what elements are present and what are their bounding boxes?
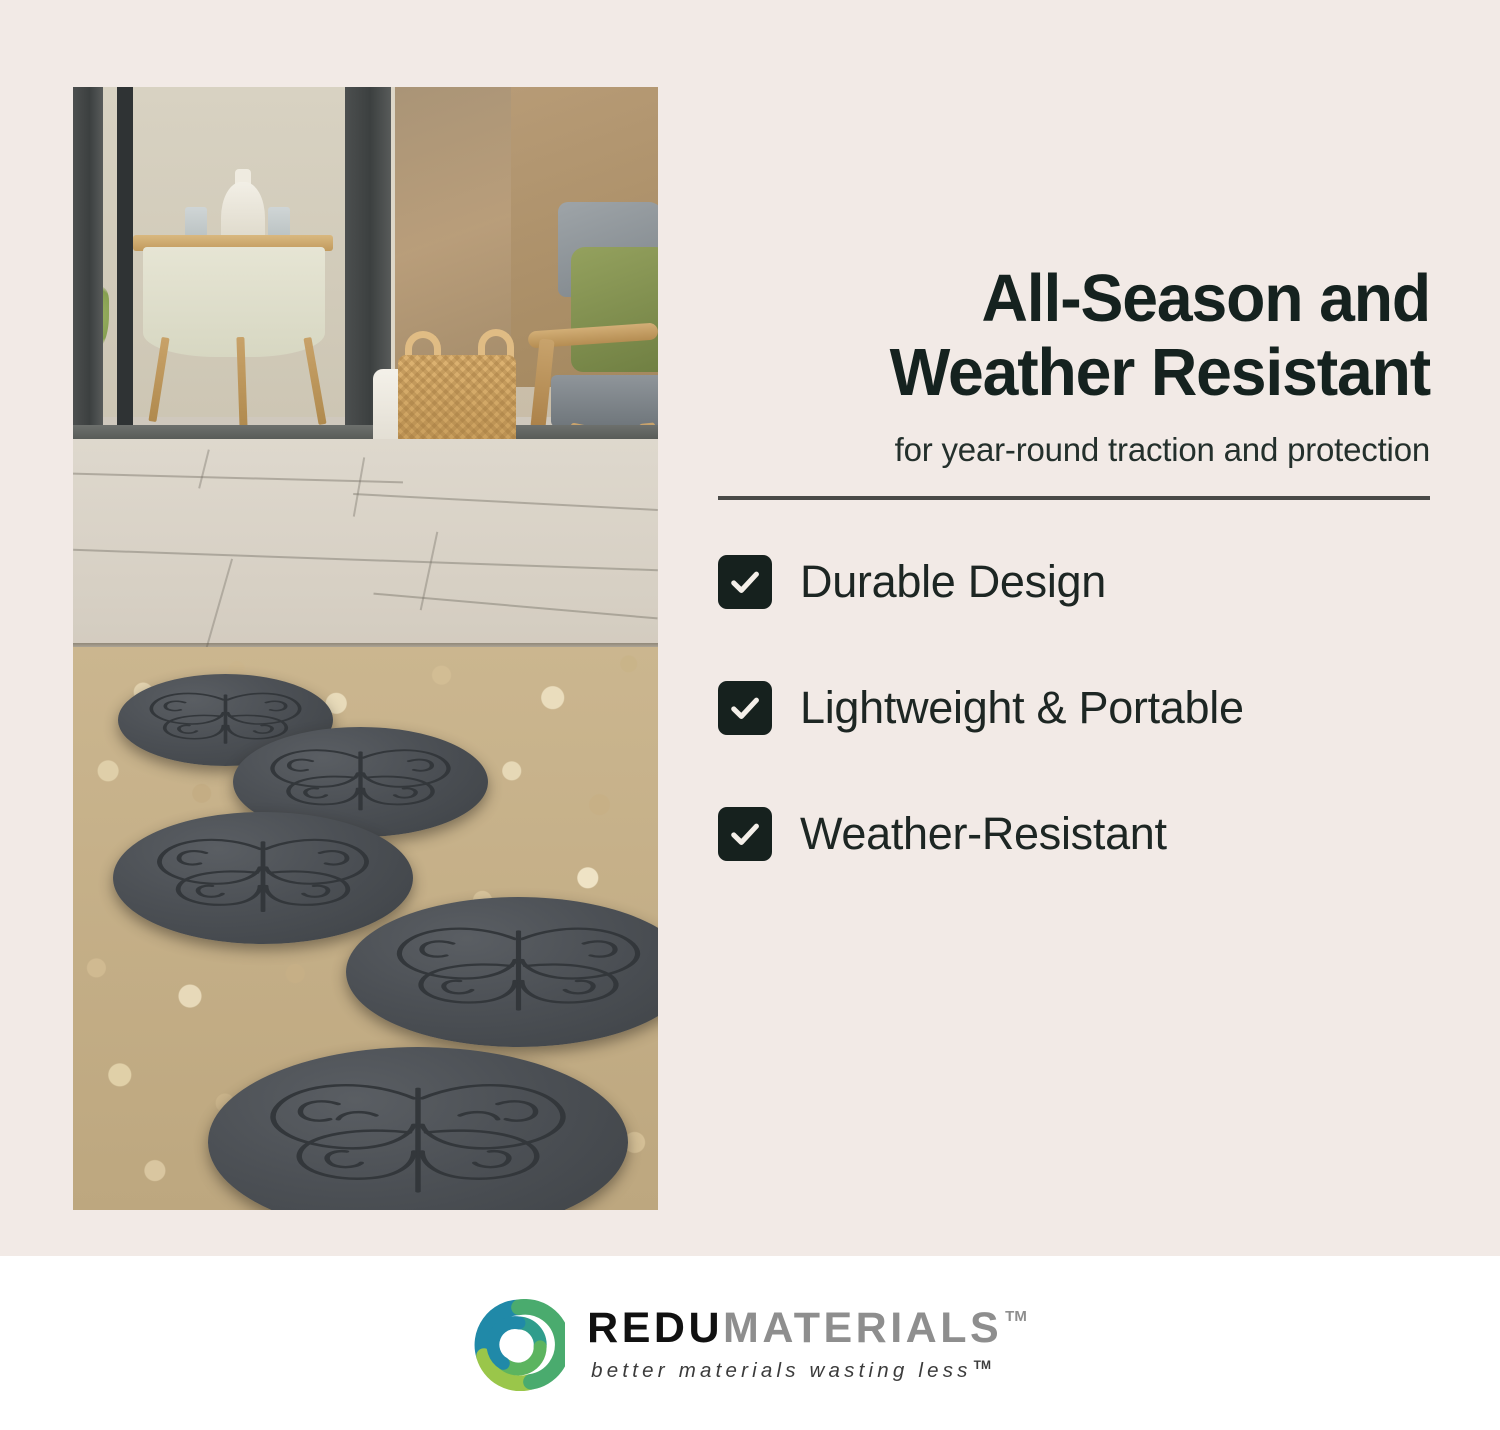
door-frame <box>73 87 103 439</box>
feature-label: Durable Design <box>800 556 1106 608</box>
trademark-symbol: TM <box>1005 1309 1027 1324</box>
brand-name-primary: REDU <box>587 1307 723 1350</box>
brand-name-secondary: MATERIALS <box>723 1307 1002 1350</box>
checkbox-checked <box>718 807 772 861</box>
drinking-glass <box>268 207 290 237</box>
stepping-stone <box>208 1047 628 1210</box>
feature-label: Weather-Resistant <box>800 808 1167 860</box>
drinking-glass <box>185 207 207 237</box>
divider <box>718 496 1430 500</box>
door-mullion <box>117 87 133 439</box>
stepping-stone <box>346 897 658 1047</box>
paving-joint <box>353 457 365 516</box>
brand-tagline: better materials wasting less <box>591 1359 971 1383</box>
feature-content: All-Season and Weather Resistant for yea… <box>718 262 1430 861</box>
brand-tagline-row: better materials wasting less TM <box>587 1359 1027 1383</box>
footer: REDU MATERIALS TM better materials wasti… <box>0 1256 1500 1430</box>
checkbox-checked <box>718 555 772 609</box>
butterfly-motif-icon <box>346 897 658 1047</box>
checkbox-checked <box>718 681 772 735</box>
product-photo <box>73 87 658 1210</box>
headline-line-1: All-Season and <box>746 262 1430 336</box>
page-title: All-Season and Weather Resistant <box>746 262 1430 409</box>
paving-joint <box>373 593 657 620</box>
photo-scene <box>73 87 658 1210</box>
headline-line-2: Weather Resistant <box>746 336 1430 410</box>
chair-seat <box>551 375 658 427</box>
paving-joint <box>353 493 658 511</box>
feature-item-weather-resistant: Weather-Resistant <box>718 807 1430 861</box>
brand-wordmark: REDU MATERIALS TM better materials wasti… <box>587 1307 1027 1383</box>
paving-joint <box>73 549 658 571</box>
chair-pillow-green <box>571 247 658 372</box>
butterfly-motif-icon <box>208 1047 628 1210</box>
feature-label: Lightweight & Portable <box>800 682 1244 734</box>
paving-joint <box>198 449 210 488</box>
feature-item-lightweight-portable: Lightweight & Portable <box>718 681 1430 735</box>
brand-logo: REDU MATERIALS TM better materials wasti… <box>473 1299 1027 1391</box>
redu-swirl-logo-icon <box>473 1299 565 1391</box>
paving-joint <box>205 559 233 651</box>
paving-joint <box>73 473 403 484</box>
feature-list: Durable Design Lightweight & Portable We… <box>718 555 1430 861</box>
trademark-symbol: TM <box>974 1358 991 1372</box>
wordmark-row: REDU MATERIALS TM <box>587 1307 1027 1350</box>
tablecloth <box>143 247 325 357</box>
feature-item-durable-design: Durable Design <box>718 555 1430 609</box>
product-feature-card: All-Season and Weather Resistant for yea… <box>0 0 1500 1430</box>
subtitle: for year-round traction and protection <box>718 431 1430 469</box>
